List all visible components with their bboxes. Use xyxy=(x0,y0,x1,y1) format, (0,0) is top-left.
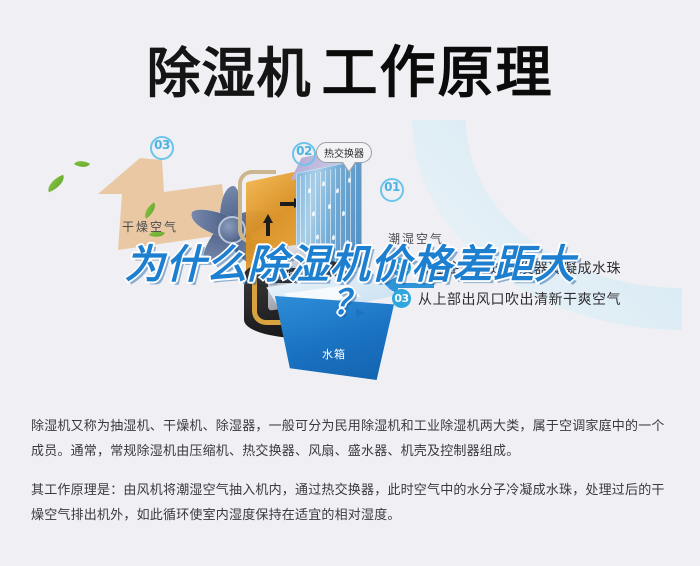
marker-badge-01: 01 xyxy=(380,178,404,202)
callout-badge-02: 02 xyxy=(292,142,316,166)
leaf-icon xyxy=(45,175,68,193)
condensation-drops xyxy=(302,168,356,271)
legend-item: 02 潮湿空气经过蒸发器冷凝成水珠 xyxy=(392,252,682,283)
page-title-part2: 工作原理 xyxy=(322,41,554,106)
moist-air-label: 潮湿空气 xyxy=(388,230,444,247)
legend-badge-03: 03 xyxy=(392,289,411,308)
body-paragraph-2: 其工作原理是：由风机将潮湿空气抽入机内，通过热交换器，此时空气中的水分子冷凝成水… xyxy=(31,478,677,528)
dry-air-label: 干燥空气 xyxy=(122,218,178,235)
legend-item-text: 潮湿空气经过蒸发器冷凝成水珠 xyxy=(418,258,621,278)
infographic-page: 除湿机工作原理 xyxy=(0,0,700,566)
body-copy: 除湿机又称为抽湿机、干燥机、除湿器，一般可分为民用除湿机和工业除湿机两大类，属于… xyxy=(31,414,677,542)
legend-list: 02 潮湿空气经过蒸发器冷凝成水珠 03 从上部出风口吹出清新干爽空气 xyxy=(392,252,682,314)
water-flow-arrow-icon xyxy=(356,308,365,318)
heat-exchanger-callout: 热交换器 xyxy=(316,142,372,163)
body-paragraph-1: 除湿机又称为抽湿机、干燥机、除湿器，一般可分为民用除湿机和工业除湿机两大类，属于… xyxy=(31,414,677,464)
water-tank xyxy=(270,296,394,380)
compressor-label: 压缩机 xyxy=(262,268,300,283)
page-title-part1: 除湿机 xyxy=(147,42,312,105)
marker-badge-03: 03 xyxy=(150,136,174,160)
page-title: 除湿机工作原理 xyxy=(0,28,700,109)
legend-item: 03 从上部出风口吹出清新干爽空气 xyxy=(392,283,682,314)
legend-item-text: 从上部出风口吹出清新干爽空气 xyxy=(418,289,621,309)
water-tank-label: 水箱 xyxy=(322,346,346,362)
legend-badge-02: 02 xyxy=(392,258,411,277)
